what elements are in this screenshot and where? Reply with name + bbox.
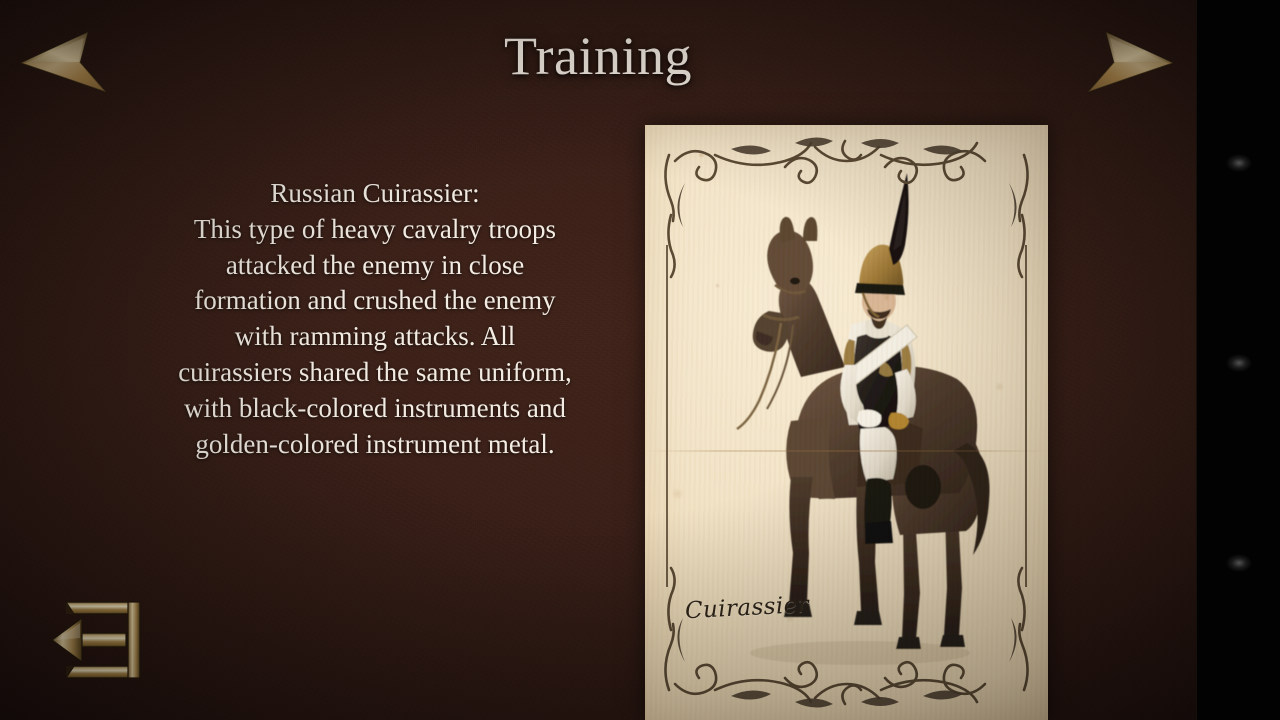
indicator-light bbox=[1226, 354, 1252, 372]
cuirassier-on-horseback bbox=[645, 125, 1048, 720]
scrollwork-border bbox=[645, 125, 1048, 720]
card-caption: Cuirassier bbox=[684, 592, 809, 624]
paper-stains bbox=[645, 125, 1048, 720]
arrow-left-icon[interactable] bbox=[18, 26, 110, 98]
indicator-light bbox=[1226, 154, 1252, 172]
page-title: Training bbox=[0, 24, 1196, 88]
device-bezel-panel bbox=[1196, 0, 1280, 720]
indicator-light bbox=[1226, 554, 1252, 572]
paper-fold bbox=[645, 450, 1048, 452]
back-exit-icon[interactable] bbox=[48, 588, 150, 692]
arrow-right-icon[interactable] bbox=[1084, 26, 1176, 98]
unit-illustration-card[interactable]: Cuirassier bbox=[645, 125, 1048, 720]
game-screen: Training Russian Cuirassier: This type o… bbox=[0, 0, 1280, 720]
unit-description: Russian Cuirassier: This type of heavy c… bbox=[175, 176, 575, 462]
